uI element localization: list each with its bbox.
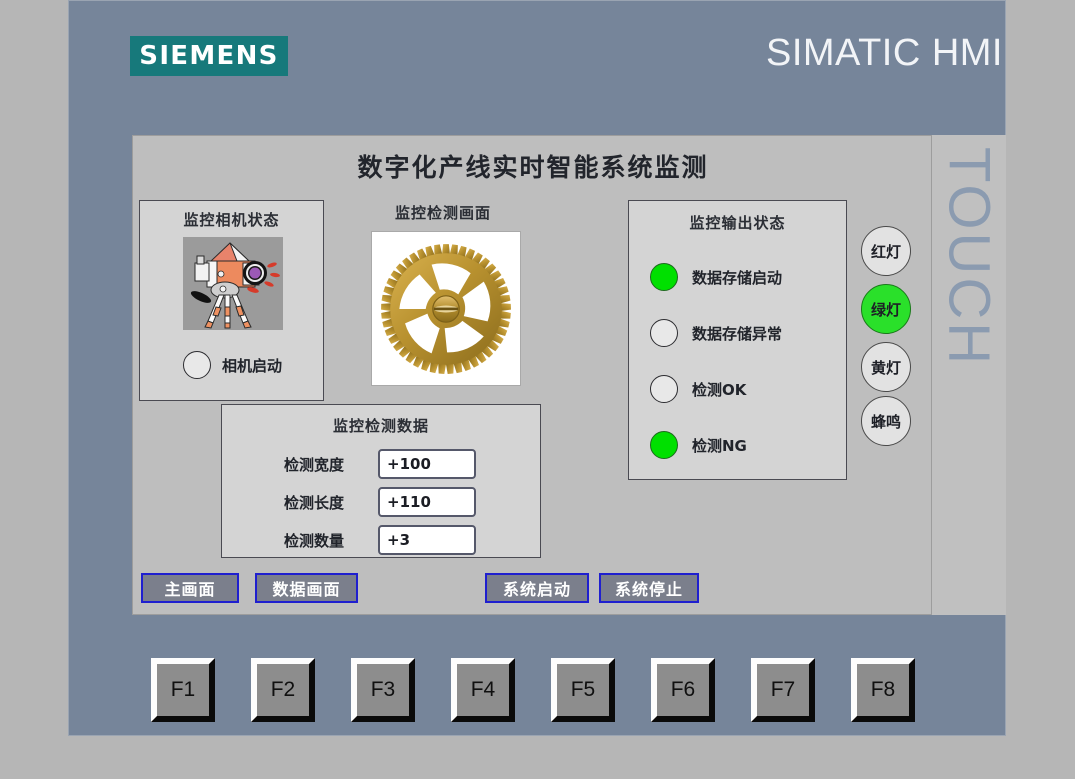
function-key-f7[interactable]: F7 (751, 658, 815, 722)
function-key-f1[interactable]: F1 (151, 658, 215, 722)
data-row: 检测数量 +3 (284, 521, 476, 559)
detection-data-panel: 监控检测数据 检测宽度 +100 检测长度 +110 检测数量 +3 (221, 404, 541, 558)
indicator-label: 数据存储启动 (692, 267, 782, 288)
data-label-count: 检测数量 (284, 530, 362, 551)
hmi-screen: 数字化产线实时智能系统监测 监控相机状态 (132, 135, 932, 615)
lamp-button-buzzer[interactable]: 蜂鸣 (861, 396, 911, 446)
indicator-label: 数据存储异常 (692, 323, 782, 344)
function-key-f5[interactable]: F5 (551, 658, 615, 722)
detection-width-field[interactable]: +100 (378, 449, 476, 479)
indicator-label: 检测OK (692, 379, 746, 400)
function-key-f4[interactable]: F4 (451, 658, 515, 722)
function-key-f6[interactable]: F6 (651, 658, 715, 722)
indicator-lamp-detect-ok (650, 375, 678, 403)
simatic-hmi-title: SIMATIC HMI (766, 32, 1003, 75)
touch-side-strip: TOUCH (932, 135, 1006, 615)
function-key-f2[interactable]: F2 (251, 658, 315, 722)
hmi-panel-root: SIEMENS SIMATIC HMI TOUCH 数字化产线实时智能系统监测 … (0, 0, 1075, 779)
detection-data-title: 监控检测数据 (222, 415, 540, 436)
detection-length-field[interactable]: +110 (378, 487, 476, 517)
data-row: 检测宽度 +100 (284, 445, 476, 483)
camera-status-panel: 监控相机状态 (139, 200, 324, 401)
indicator-row: 数据存储异常 (650, 305, 782, 361)
detection-data-rows: 检测宽度 +100 检测长度 +110 检测数量 +3 (284, 445, 476, 559)
detection-view-image (371, 231, 521, 386)
data-label-length: 检测长度 (284, 492, 362, 513)
indicator-label: 检测NG (692, 435, 747, 456)
nav-button-main-screen[interactable]: 主画面 (141, 573, 239, 603)
function-key-f3[interactable]: F3 (351, 658, 415, 722)
detection-view-label: 监控检测画面 (363, 202, 523, 223)
camera-status-title: 监控相机状态 (140, 209, 323, 230)
lamp-button-red[interactable]: 红灯 (861, 226, 911, 276)
touch-label: TOUCH (936, 147, 1003, 367)
indicator-lamp-data-save-error (650, 319, 678, 347)
indicator-row: 检测NG (650, 417, 782, 473)
output-status-panel: 监控输出状态 数据存储启动 数据存储异常 检测OK 检测NG (628, 200, 847, 480)
output-status-title: 监控输出状态 (629, 212, 846, 233)
indicator-row: 数据存储启动 (650, 249, 782, 305)
indicator-lamp-data-save-start (650, 263, 678, 291)
page-title: 数字化产线实时智能系统监测 (133, 148, 933, 184)
function-key-f8[interactable]: F8 (851, 658, 915, 722)
camera-illustration-icon (183, 237, 283, 330)
lamp-button-yellow[interactable]: 黄灯 (861, 342, 911, 392)
nav-button-system-start[interactable]: 系统启动 (485, 573, 589, 603)
camera-start-lamp (183, 351, 211, 379)
nav-button-system-stop[interactable]: 系统停止 (599, 573, 699, 603)
camera-start-label: 相机启动 (222, 355, 282, 376)
siemens-logo-text: SIEMENS (139, 41, 278, 71)
nav-button-data-screen[interactable]: 数据画面 (255, 573, 358, 603)
data-label-width: 检测宽度 (284, 454, 362, 475)
siemens-logo: SIEMENS (130, 36, 288, 76)
detection-count-field[interactable]: +3 (378, 525, 476, 555)
lamp-button-green[interactable]: 绿灯 (861, 284, 911, 334)
data-row: 检测长度 +110 (284, 483, 476, 521)
indicator-row: 检测OK (650, 361, 782, 417)
output-indicator-list: 数据存储启动 数据存储异常 检测OK 检测NG (650, 249, 782, 473)
camera-start-indicator-row: 相机启动 (140, 351, 325, 379)
indicator-lamp-detect-ng (650, 431, 678, 459)
